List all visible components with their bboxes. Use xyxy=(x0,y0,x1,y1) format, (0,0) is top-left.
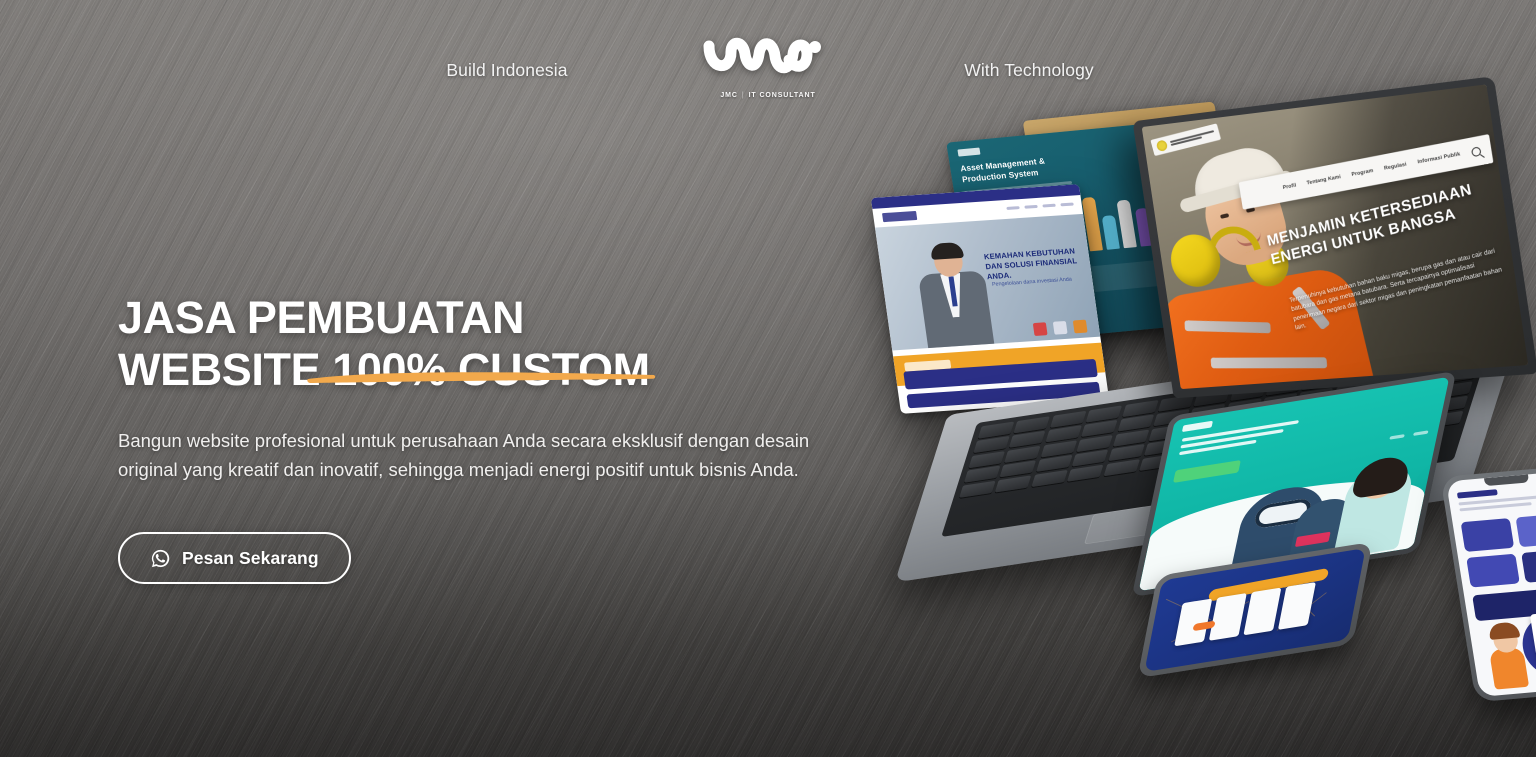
tablet-site-cta-button xyxy=(1173,460,1241,483)
order-now-button-label: Pesan Sekarang xyxy=(182,548,319,569)
screen-nav-item-4: Informasi Publik xyxy=(1417,151,1461,165)
seal-icon xyxy=(1156,139,1169,152)
phone-notch xyxy=(1484,474,1529,486)
headline-line-1: JASA PEMBUATAN xyxy=(118,292,524,343)
logo-divider: | xyxy=(742,92,745,99)
phone-site-stat-cards xyxy=(1461,513,1536,587)
screen-nav-item-2: Program xyxy=(1351,168,1374,178)
tablet-site-logo xyxy=(1182,421,1213,432)
phone-site-wide-card xyxy=(1472,586,1536,621)
brand-logo[interactable]: JMC | IT CONSULTANT xyxy=(693,36,843,99)
jmc-wave-logo-icon xyxy=(703,36,833,90)
page-title: JASA PEMBUATAN WEBSITE 100% CUSTOM xyxy=(118,292,878,396)
whatsapp-icon xyxy=(150,548,171,569)
device-mockup-composition: MASAK Buku Menu Da Asset Management & Pr… xyxy=(790,70,1536,690)
screen-nav-item-1: Tentang Kami xyxy=(1306,174,1341,186)
tagline-right: With Technology xyxy=(879,60,1179,81)
phone-site-person-illustration xyxy=(1475,622,1536,690)
logo-tagline: IT CONSULTANT xyxy=(749,92,816,99)
headline-line-2: WEBSITE 100% CUSTOM xyxy=(118,344,878,396)
phone-portrait-screen xyxy=(1446,471,1536,697)
screen-nav-item-0: Profil xyxy=(1282,183,1296,191)
finance-site-logo xyxy=(882,211,917,222)
laptop-mockup: Profil Tentang Kami Program Regulasi Inf… xyxy=(918,98,1518,618)
hero-subcopy: Bangun website profesional untuk perusah… xyxy=(118,426,828,484)
tablet-site-nav xyxy=(1389,430,1428,439)
phone-site-logo xyxy=(1457,489,1498,498)
hero-section: Build Indonesia JMC | IT CONSULTANT With… xyxy=(0,0,1536,757)
order-now-button[interactable]: Pesan Sekarang xyxy=(118,532,351,584)
logo-name: JMC xyxy=(720,92,737,99)
logo-subtitle: JMC | IT CONSULTANT xyxy=(720,92,815,99)
search-icon xyxy=(1471,146,1482,157)
phone-portrait-mockup xyxy=(1440,466,1536,703)
tagline-left: Build Indonesia xyxy=(357,60,657,81)
screen-nav-item-3: Regulasi xyxy=(1384,161,1407,171)
hero-topbar: Build Indonesia JMC | IT CONSULTANT With… xyxy=(0,0,1536,140)
hero-copy-block: JASA PEMBUATAN WEBSITE 100% CUSTOM Bangu… xyxy=(118,292,878,584)
